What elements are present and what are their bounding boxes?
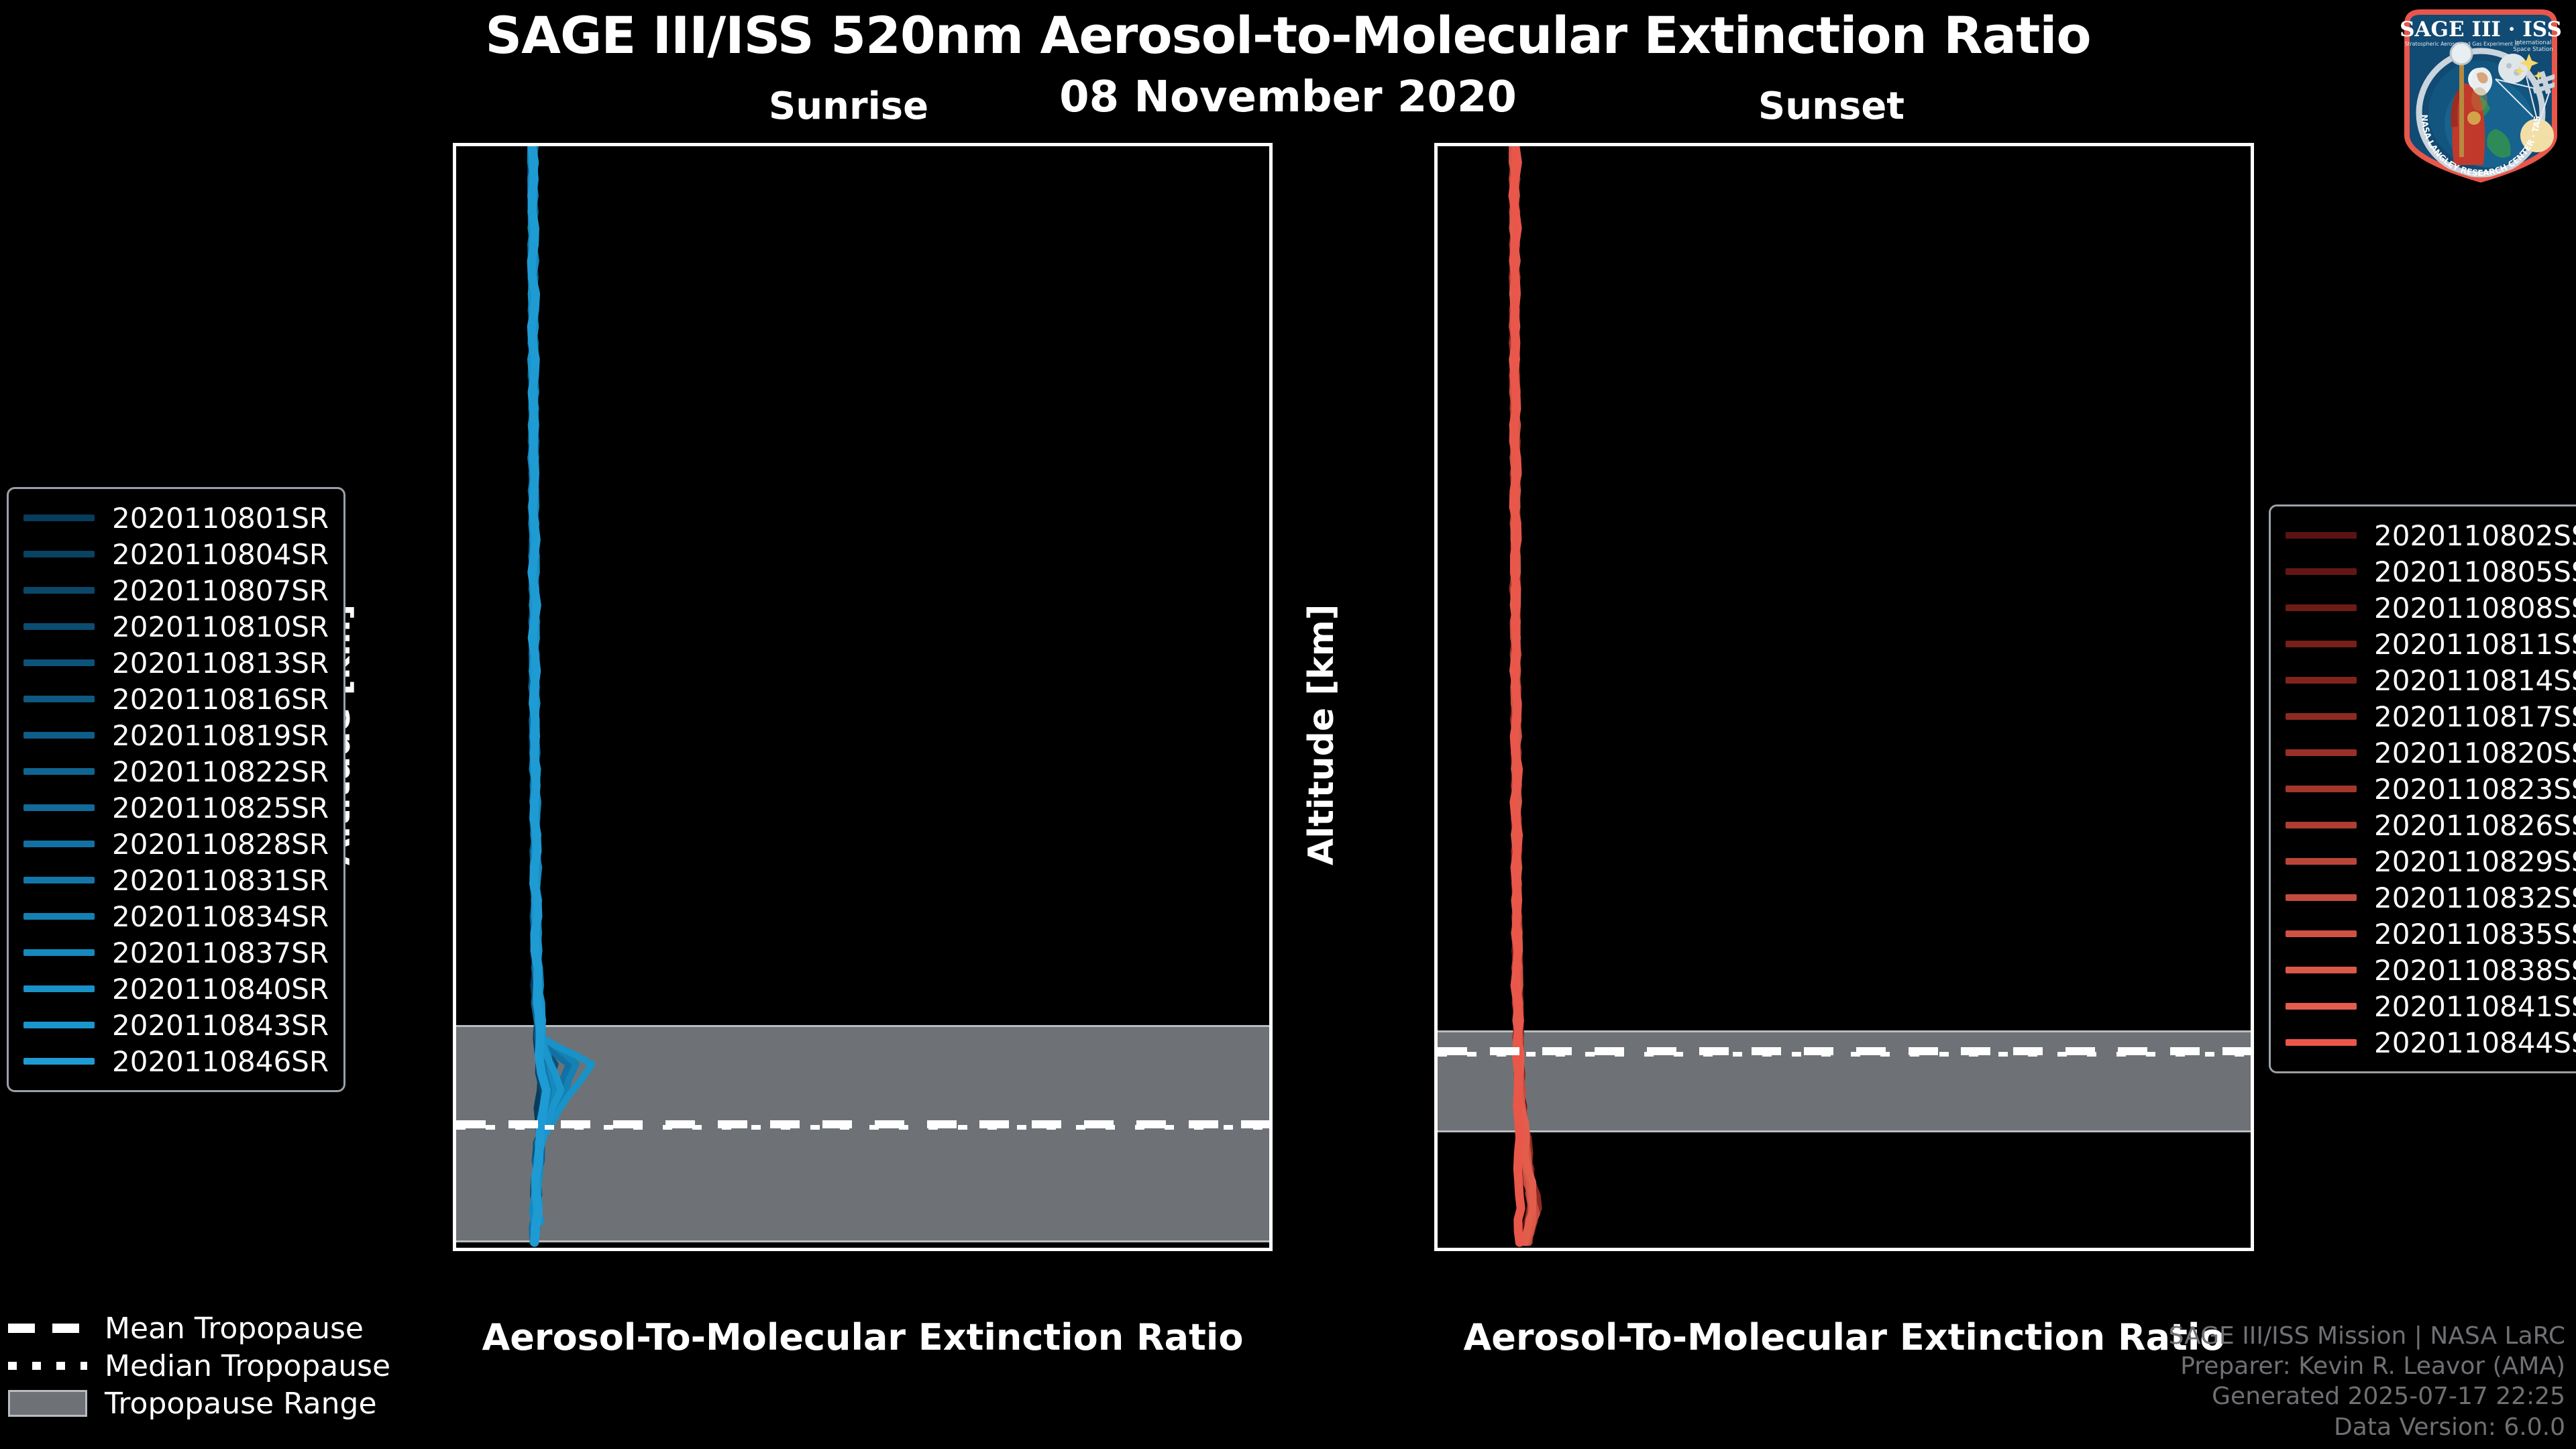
tropopause-key-glyph-dotted [8,1357,87,1375]
legend-item-sunrise[interactable]: 2020110846SR [23,1043,329,1079]
legend-item-label: 2020110801SR [112,502,329,535]
legend-color-swatch [23,551,95,557]
legend-item-sunset[interactable]: 2020110826SS [2286,807,2576,843]
logo-subtitle-right-2: Space Station [2513,46,2553,53]
legend-color-swatch [23,587,95,594]
y-tick-mark [453,1193,456,1197]
legend-color-swatch [2286,967,2357,973]
legend-item-label: 2020110804SR [112,538,329,571]
legend-color-swatch [2286,1039,2357,1046]
y-tick-mark [453,669,456,672]
legend-color-swatch [23,1058,95,1065]
plot-area-sunrise: 101520253035404550020406080100 [456,146,1269,1248]
y-axis-label-sunset: Altitude [km] [1301,604,1342,865]
tropopause-key-item: Tropopause Range [8,1385,390,1422]
legend-color-swatch [2286,786,2357,792]
x-tick-mark [1510,1248,1513,1251]
legend-item-sunrise[interactable]: 2020110819SR [23,717,329,753]
legend-item-label: 2020110826SS [2374,809,2576,842]
x-axis-label-sunrise: Aerosol-To-Molecular Extinction Ratio [453,1316,1273,1358]
legend-item-sunset[interactable]: 2020110814SS [2286,662,2576,698]
x-tick-mark [1658,1248,1661,1251]
tropopause-key-glyph-swatch [8,1395,87,1412]
logo-subtitle-left: Stratospheric Aerosol and Gas Experiment… [2405,41,2519,47]
legend-item-label: 2020110823SS [2374,773,2576,806]
x-tick-mark [972,1248,975,1251]
legend-color-swatch [2286,822,2357,828]
y-tick-mark [1434,145,1438,148]
tropopause-key-label: Median Tropopause [105,1349,390,1383]
legend-item-label: 2020110813SR [112,647,329,680]
legend-item-label: 2020110805SS [2374,555,2576,588]
legend-color-swatch [2286,641,2357,647]
legend-item-sunset[interactable]: 2020110823SS [2286,771,2576,807]
page-title: SAGE III/ISS 520nm Aerosol-to-Molecular … [0,9,2576,62]
legend-item-sunset[interactable]: 2020110805SS [2286,553,2576,590]
legend-item-label: 2020110834SR [112,900,329,933]
y-tick-mark [453,800,456,804]
legend-color-swatch [23,804,95,811]
y-tick-mark [453,931,456,934]
legend-color-swatch [2286,930,2357,937]
panel-label-sunset: Sunset [1697,85,1966,128]
legend-color-swatch [23,659,95,666]
legend-color-swatch [2286,1003,2357,1010]
y-tick-mark [1434,1063,1438,1066]
legend-item-label: 2020110822SR [112,755,329,788]
legend-item-sunrise[interactable]: 2020110837SR [23,934,329,971]
credits-block: SAGE III/ISS Mission | NASA LaRCPreparer… [2169,1321,2565,1442]
legend-item-sunset[interactable]: 2020110802SS [2286,517,2576,553]
x-tick-mark [1805,1248,1809,1251]
plot-panel-sunset[interactable]: 101520253035404550020406080100 [1434,143,2254,1251]
legend-item-label: 2020110807SR [112,574,329,607]
legend-item-sunrise[interactable]: 2020110822SR [23,753,329,790]
legend-color-swatch [2286,604,2357,611]
credits-line: Data Version: 6.0.0 [2169,1412,2565,1442]
logo-title: SAGE III · ISS [2400,17,2562,42]
legend-item-sunset[interactable]: 2020110832SS [2286,879,2576,916]
mean-tropopause-line-sunrise [456,1120,1269,1128]
legend-item-sunrise[interactable]: 2020110843SR [23,1007,329,1043]
legend-item-label: 2020110825SR [112,792,329,824]
x-tick-mark [824,1248,827,1251]
x-tick-mark [529,1248,532,1251]
legend-color-swatch [2286,858,2357,865]
legend-color-swatch [2286,894,2357,901]
legend-item-sunset[interactable]: 2020110808SS [2286,590,2576,626]
legend-tropopause-key: Mean TropopauseMedian TropopauseTropopau… [8,1309,390,1422]
y-tick-mark [453,145,456,148]
legend-color-swatch [2286,677,2357,684]
legend-item-sunrise[interactable]: 2020110801SR [23,500,329,536]
legend-item-label: 2020110820SS [2374,737,2576,769]
legend-item-label: 2020110844SS [2374,1026,2576,1059]
glyph-shape [8,1362,87,1370]
legend-color-swatch [23,732,95,739]
legend-color-swatch [2286,532,2357,539]
credits-line: Preparer: Kevin R. Leavor (AMA) [2169,1351,2565,1381]
x-tick-mark [2101,1248,2104,1251]
y-tick-mark [1434,669,1438,672]
credits-line: SAGE III/ISS Mission | NASA LaRC [2169,1321,2565,1351]
legend-color-swatch [23,949,95,956]
legend-item-sunset[interactable]: 2020110844SS [2286,1024,2576,1061]
legend-color-swatch [23,1022,95,1028]
legend-item-label: 2020110843SR [112,1009,329,1042]
profile-curves-sunset [1438,146,2251,1248]
y-tick-mark [453,276,456,279]
page-subtitle: 08 November 2020 [0,72,2576,122]
x-tick-mark [676,1248,680,1251]
legend-item-sunset[interactable]: 2020110829SS [2286,843,2576,879]
legend-item-sunrise[interactable]: 2020110813SR [23,645,329,681]
mean-tropopause-line-sunset [1438,1047,2251,1055]
logo-subtitle-right-1: International [2515,40,2552,46]
legend-color-swatch [23,623,95,630]
sage-mission-patch-logo: SAGE III · ISS Stratospheric Aerosol and… [2395,4,2567,185]
x-axis-label-sunset: Aerosol-To-Molecular Extinction Ratio [1434,1316,2254,1358]
legend-color-swatch [23,985,95,992]
tropopause-key-label: Tropopause Range [105,1387,377,1421]
plot-panel-sunrise[interactable]: 101520253035404550020406080100 [453,143,1273,1251]
legend-color-swatch [23,841,95,847]
legend-item-sunrise[interactable]: 2020110828SR [23,826,329,862]
legend-item-label: 2020110817SS [2374,700,2576,733]
legend-color-swatch [2286,749,2357,756]
legend-item-label: 2020110810SR [112,610,329,643]
legend-item-sunrise[interactable]: 2020110840SR [23,971,329,1007]
credits-line: Generated 2025-07-17 22:25 [2169,1381,2565,1411]
y-tick-mark [1434,931,1438,934]
y-tick-mark [453,1063,456,1066]
legend-color-swatch [23,913,95,920]
legend-sunset[interactable]: 2020110802SS2020110805SS2020110808SS2020… [2269,504,2576,1073]
legend-color-swatch [23,768,95,775]
legend-item-label: 2020110837SR [112,936,329,969]
legend-color-swatch [23,877,95,883]
legend-color-swatch [23,696,95,702]
legend-item-label: 2020110832SS [2374,881,2576,914]
legend-item-sunset[interactable]: 2020110811SS [2286,626,2576,662]
y-tick-mark [1434,1193,1438,1197]
legend-color-swatch [23,515,95,521]
profile-curves-sunrise [456,146,1269,1248]
y-tick-mark [1434,407,1438,410]
legend-item-sunrise[interactable]: 2020110810SR [23,608,329,645]
tropopause-key-item: Mean Tropopause [8,1309,390,1347]
legend-item-label: 2020110840SR [112,973,329,1006]
legend-item-label: 2020110819SR [112,719,329,752]
y-tick-mark [1434,800,1438,804]
legend-item-sunset[interactable]: 2020110820SS [2286,735,2576,771]
y-tick-mark [1434,538,1438,541]
x-tick-mark [1953,1248,1957,1251]
legend-item-sunset[interactable]: 2020110838SS [2286,952,2576,988]
y-tick-mark [453,407,456,410]
legend-item-label: 2020110831SR [112,864,329,897]
legend-item-label: 2020110829SS [2374,845,2576,878]
legend-item-sunset[interactable]: 2020110841SS [2286,988,2576,1024]
legend-item-sunrise[interactable]: 2020110834SR [23,898,329,934]
plot-area-sunset: 101520253035404550020406080100 [1438,146,2251,1248]
legend-item-label: 2020110814SS [2374,664,2576,697]
legend-item-label: 2020110811SS [2374,628,2576,661]
x-tick-mark [1268,1248,1271,1251]
legend-item-sunrise[interactable]: 2020110825SR [23,790,329,826]
legend-item-sunrise[interactable]: 2020110816SR [23,681,329,717]
legend-item-sunrise[interactable]: 2020110804SR [23,536,329,572]
glyph-shape [8,1324,87,1333]
legend-item-label: 2020110808SS [2374,592,2576,625]
tropopause-key-glyph-dashed [8,1320,87,1337]
glyph-shape [8,1390,87,1417]
y-tick-mark [1434,276,1438,279]
legend-item-label: 2020110838SS [2374,954,2576,987]
legend-item-label: 2020110816SR [112,683,329,716]
legend-item-label: 2020110841SS [2374,990,2576,1023]
x-tick-mark [1120,1248,1123,1251]
panel-label-sunrise: Sunrise [714,85,983,128]
tropopause-key-label: Mean Tropopause [105,1311,364,1346]
legend-item-sunrise[interactable]: 2020110807SR [23,572,329,608]
legend-item-sunset[interactable]: 2020110835SS [2286,916,2576,952]
y-tick-mark [453,538,456,541]
legend-sunrise[interactable]: 2020110801SR2020110804SR2020110807SR2020… [7,487,345,1092]
legend-item-label: 2020110835SS [2374,918,2576,951]
legend-item-label: 2020110846SR [112,1045,329,1078]
legend-color-swatch [2286,568,2357,575]
legend-item-label: 2020110802SS [2374,519,2576,552]
legend-color-swatch [2286,713,2357,720]
legend-item-sunrise[interactable]: 2020110831SR [23,862,329,898]
tropopause-key-item: Median Tropopause [8,1347,390,1385]
legend-item-label: 2020110828SR [112,828,329,861]
x-tick-mark [2249,1248,2253,1251]
legend-item-sunset[interactable]: 2020110817SS [2286,698,2576,735]
